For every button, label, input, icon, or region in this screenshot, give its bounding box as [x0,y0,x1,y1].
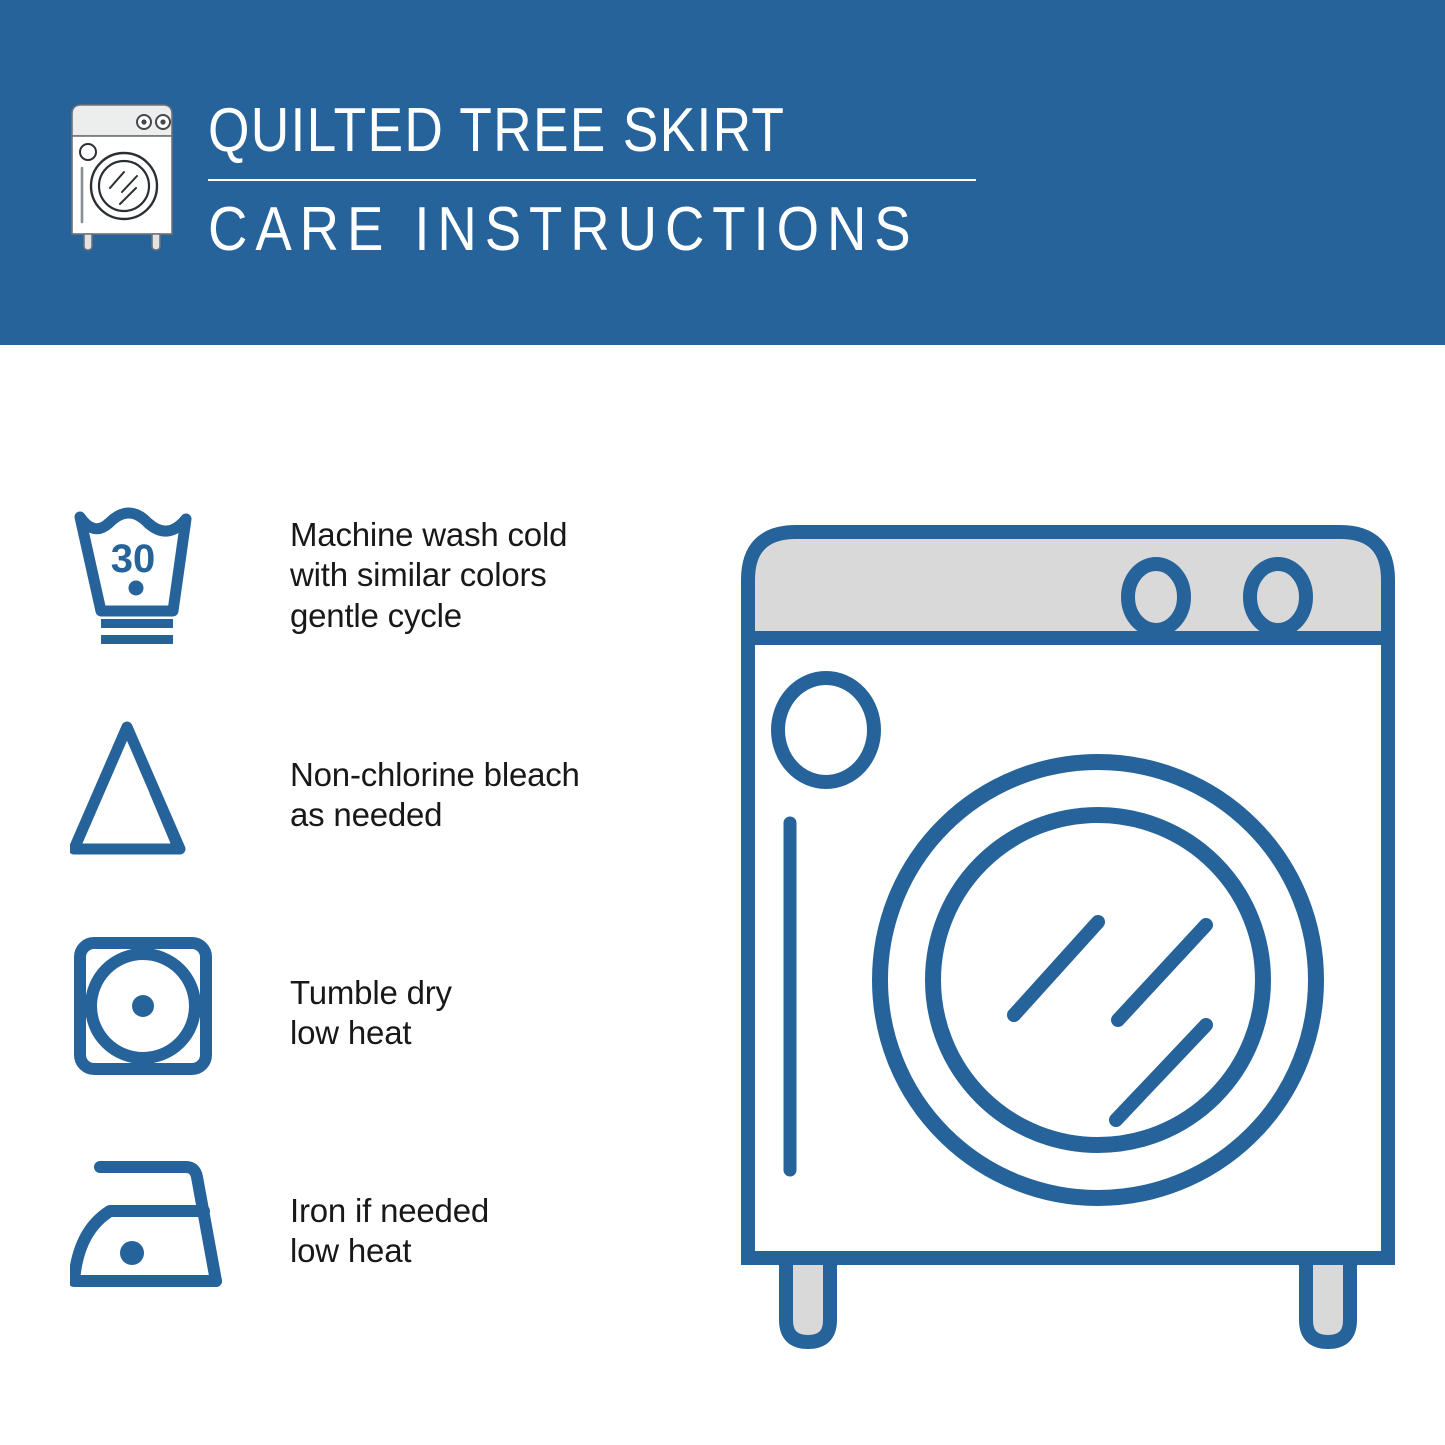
care-label-iron: Iron if needed low heat [290,1191,489,1272]
front-load-washing-machine-illustration [718,480,1418,1380]
care-row-machine-wash: 30 Machine wash cold with similar colors… [70,495,690,713]
washing-machine-icon [62,100,182,255]
iron-low-heat-icon [70,1149,240,1309]
svg-text:30: 30 [111,537,156,581]
care-row-tumble-dry: Tumble dry low heat [70,931,690,1149]
care-label-tumble-dry: Tumble dry low heat [290,973,452,1054]
care-label-machine-wash: Machine wash cold with similar colors ge… [290,515,567,636]
tumble-dry-low-icon [70,931,240,1091]
care-symbol-list: 30 Machine wash cold with similar colors… [70,495,690,1367]
non-chlorine-bleach-triangle-icon [70,713,240,873]
page-title: QUILTED TREE SKIRT [208,98,887,163]
care-row-iron: Iron if needed low heat [70,1149,690,1367]
page-subtitle: CARE INSTRUCTIONS [208,197,903,262]
header-text-block: QUILTED TREE SKIRT CARE INSTRUCTIONS [208,98,998,262]
care-row-bleach: Non-chlorine bleach as needed [70,713,690,931]
care-label-bleach: Non-chlorine bleach as needed [290,755,580,836]
header-band: QUILTED TREE SKIRT CARE INSTRUCTIONS [0,0,1445,345]
wash-tub-30-icon: 30 [70,495,240,655]
title-divider [208,179,976,181]
care-instructions-page: QUILTED TREE SKIRT CARE INSTRUCTIONS 30 [0,0,1445,1445]
